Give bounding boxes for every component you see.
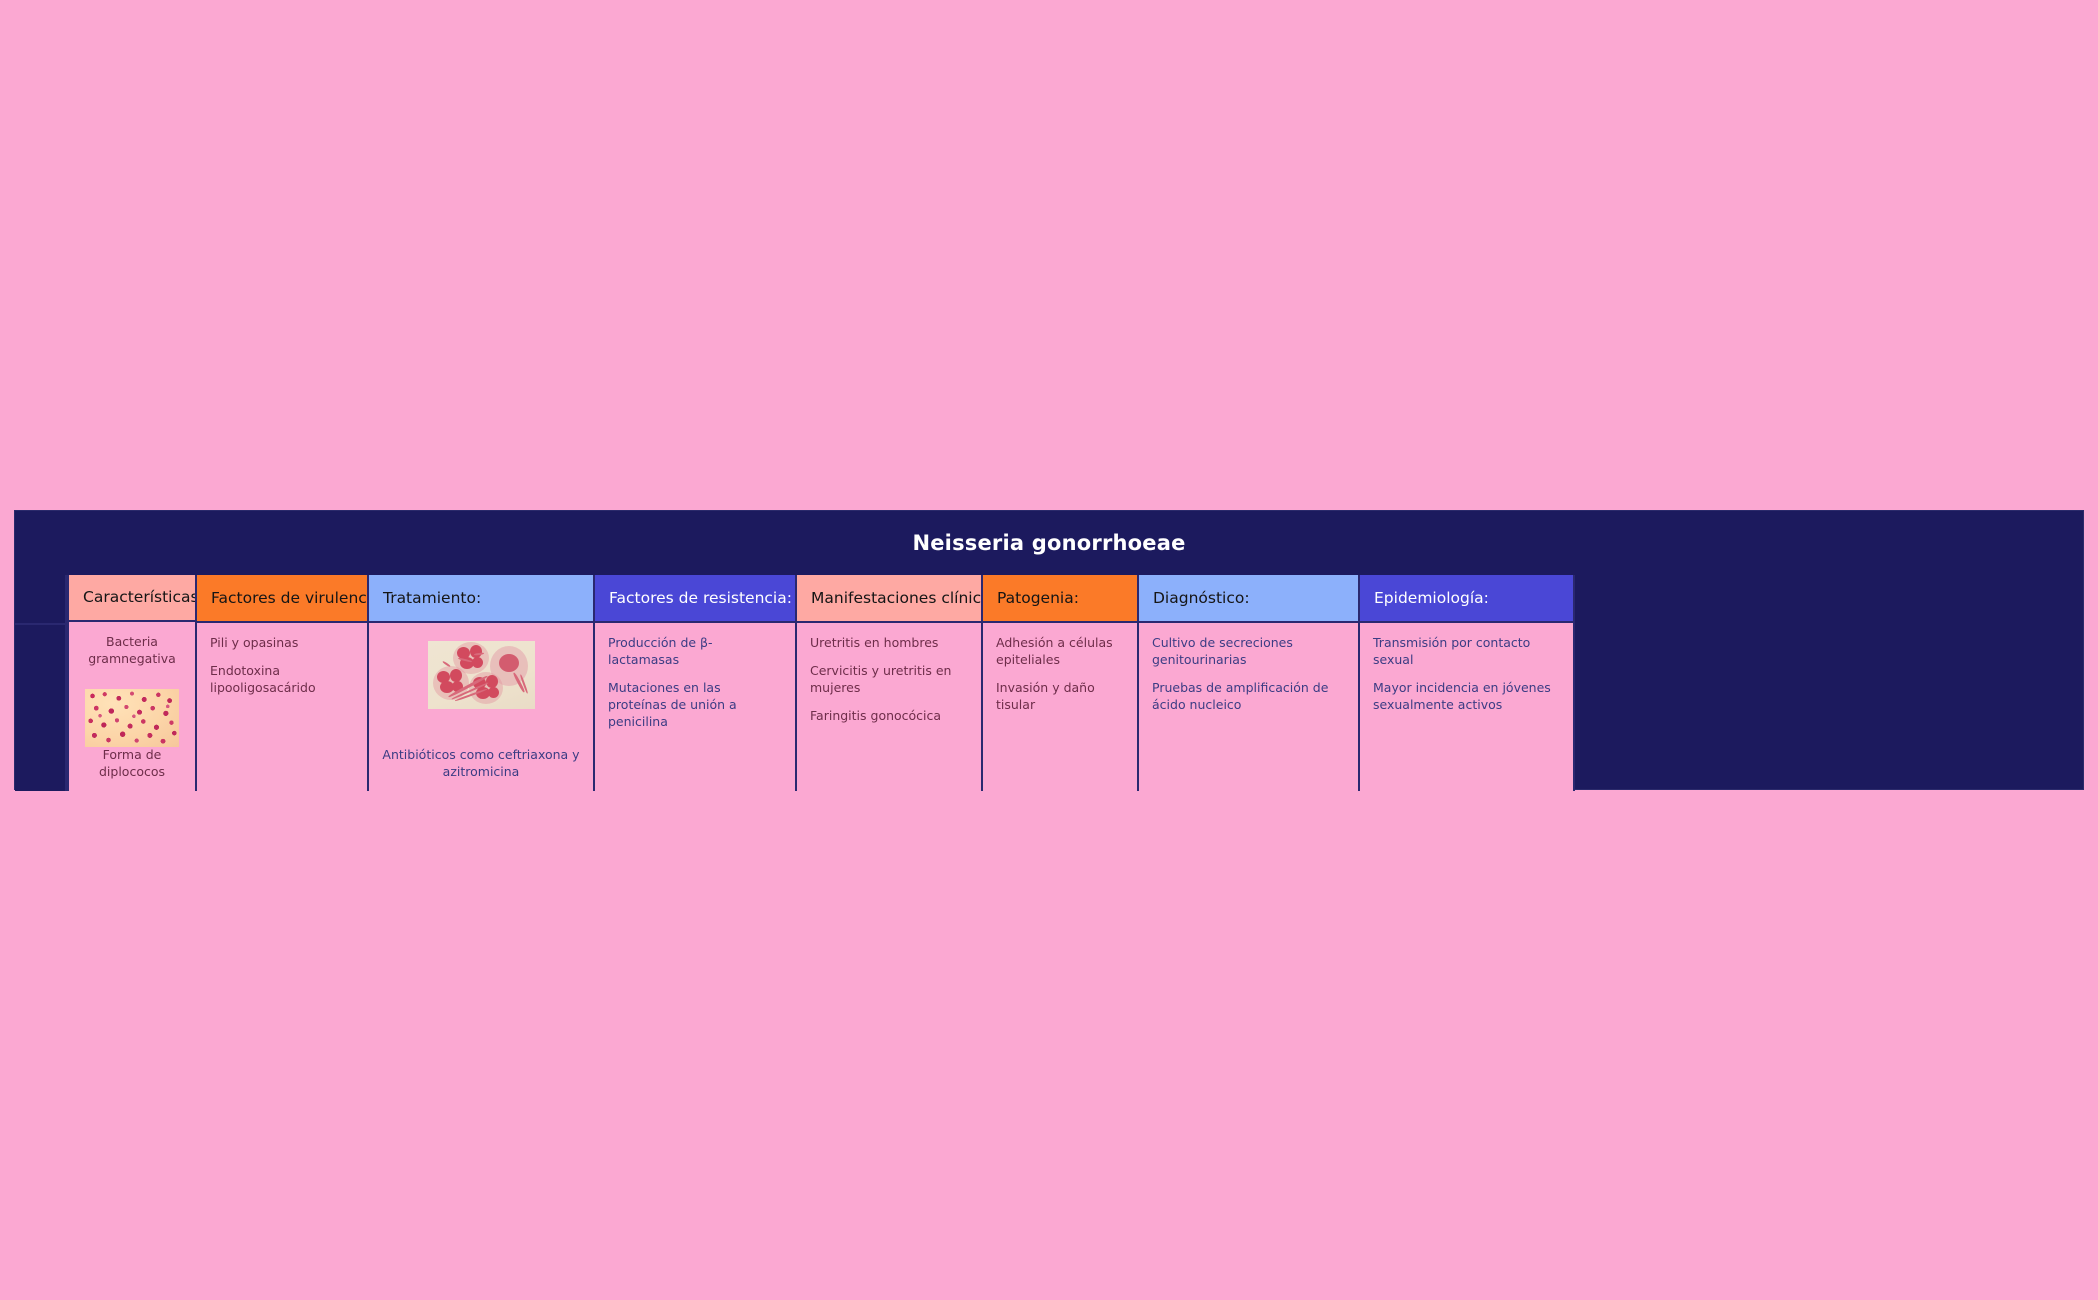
column-body: Uretritis en hombresCervicitis y uretrit… <box>797 623 981 791</box>
concept-table: Neisseria gonorrhoeae Características:Ba… <box>14 510 2084 790</box>
micrograph-diplococci-smear <box>85 689 179 748</box>
column-item: Faringitis gonocócica <box>810 708 941 725</box>
column-body: Producción de β-lactamasasMutaciones en … <box>595 623 795 791</box>
column-header[interactable]: Factores de virulencia: <box>197 575 367 623</box>
neutrophil-nuclear-lobe <box>470 645 482 658</box>
column-header[interactable]: Epidemiología: <box>1360 575 1573 623</box>
column-header[interactable]: Tratamiento: <box>369 575 593 623</box>
column-header[interactable]: Manifestaciones clínicas: <box>797 575 981 623</box>
column-header[interactable]: Patogenia: <box>983 575 1137 623</box>
table-column-5: Manifestaciones clínicas:Uretritis en ho… <box>795 575 981 791</box>
column-item: Bacteria gramnegativa <box>82 634 182 668</box>
column-body: Antibióticos como ceftriaxona y azitromi… <box>369 623 593 791</box>
column-item: Cervicitis y uretritis en mujeres <box>810 663 968 697</box>
neutrophil-nuclear-lobe <box>472 657 483 668</box>
column-item: Forma de diplococos <box>82 747 182 781</box>
table-column-6: Patogenia:Adhesión a células epiteliales… <box>981 575 1137 791</box>
neutrophil-nuclear-lobe <box>450 669 462 682</box>
micrograph-gram-stain-neutrophils <box>428 641 535 709</box>
column-header[interactable]: Características: <box>69 575 195 622</box>
column-item: Mayor incidencia en jóvenes sexualmente … <box>1373 680 1560 714</box>
column-body: Bacteria gramnegativaForma de diplococos <box>69 622 195 791</box>
table-columns: Características:Bacteria gramnegativaFor… <box>15 575 2083 791</box>
neutrophil-nuclear-lobe <box>488 687 499 698</box>
table-column-8: Epidemiología:Transmisión por contacto s… <box>1358 575 1575 791</box>
column-item: Adhesión a células epiteliales <box>996 635 1124 669</box>
table-column-1: Características:Bacteria gramnegativaFor… <box>67 575 195 791</box>
table-column-4: Factores de resistencia:Producción de β-… <box>593 575 795 791</box>
column-header[interactable]: Factores de resistencia: <box>595 575 795 623</box>
column-body: Cultivo de secreciones genitourinariasPr… <box>1139 623 1358 791</box>
table-column-2: Factores de virulencia:Pili y opasinasEn… <box>195 575 367 791</box>
column-item: Antibióticos como ceftriaxona y azitromi… <box>382 747 580 781</box>
column-item: Cultivo de secreciones genitourinarias <box>1152 635 1345 669</box>
column-body: Transmisión por contacto sexualMayor inc… <box>1360 623 1573 791</box>
column-body: Adhesión a células epitelialesInvasión y… <box>983 623 1137 791</box>
left-spacer-divider <box>15 623 67 625</box>
table-title-bar: Neisseria gonorrhoeae <box>15 511 2083 575</box>
table-column-7: Diagnóstico:Cultivo de secreciones genit… <box>1137 575 1358 791</box>
column-item: Transmisión por contacto sexual <box>1373 635 1560 669</box>
left-spacer-column <box>15 575 67 791</box>
column-item: Producción de β-lactamasas <box>608 635 782 669</box>
column-header[interactable]: Diagnóstico: <box>1139 575 1358 623</box>
column-item: Endotoxina lipooligosacárido <box>210 663 354 697</box>
cell-large-nucleus <box>499 654 519 672</box>
column-item: Uretritis en hombres <box>810 635 938 652</box>
page-canvas: Neisseria gonorrhoeae Características:Ba… <box>0 0 2098 1300</box>
column-item: Pili y opasinas <box>210 635 298 652</box>
table-column-3: Tratamiento:Antibióticos como ceftriaxon… <box>367 575 593 791</box>
page-title: Neisseria gonorrhoeae <box>912 531 1185 555</box>
column-item: Invasión y daño tisular <box>996 680 1124 714</box>
column-item: Mutaciones en las proteínas de unión a p… <box>608 680 782 731</box>
column-body: Pili y opasinasEndotoxina lipooligosacár… <box>197 623 367 791</box>
column-item: Pruebas de amplificación de ácido nuclei… <box>1152 680 1345 714</box>
